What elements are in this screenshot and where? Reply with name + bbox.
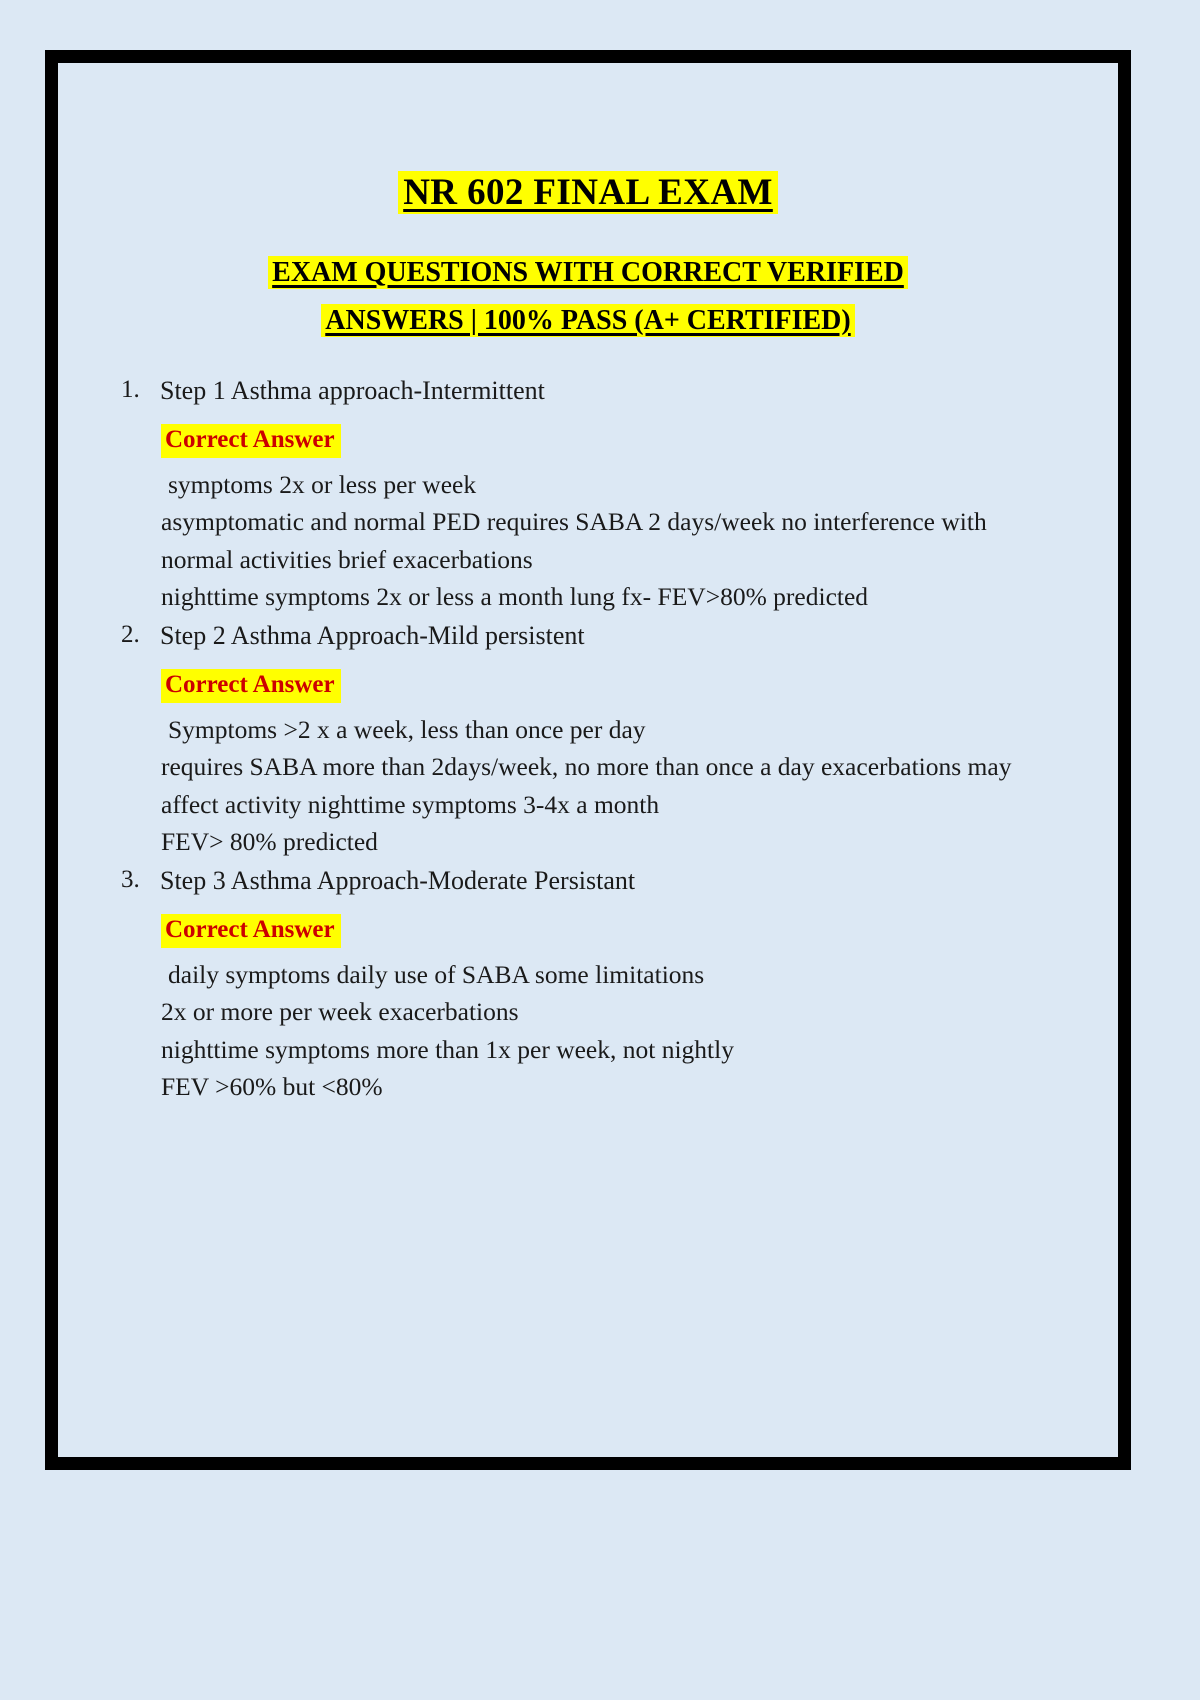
- answer-line: nighttime symptoms 2x or less a month lu…: [161, 578, 1058, 615]
- question-text: Step 1 Asthma approach-Intermittent: [160, 371, 1058, 411]
- answer-body: symptoms 2x or less per week asymptomati…: [161, 466, 1058, 616]
- answer-line: 2x or more per week exacerbations: [161, 993, 1058, 1030]
- document-page-frame: NR 602 FINAL EXAM EXAM QUESTIONS WITH CO…: [45, 50, 1131, 1470]
- answer-line: nighttime symptoms more than 1x per week…: [161, 1031, 1058, 1068]
- question-answer-list: 1. Step 1 Asthma approach-Intermittent C…: [118, 371, 1058, 1106]
- answer-label-container: Correct Answer: [161, 669, 1058, 703]
- answer-line: daily symptoms daily use of SABA some li…: [161, 956, 1058, 993]
- answer-line: symptoms 2x or less per week: [161, 466, 1058, 503]
- question-number: 3.: [121, 861, 140, 899]
- answer-line: asymptomatic and normal PED requires SAB…: [161, 503, 1058, 578]
- list-item: 2. Step 2 Asthma Approach-Mild persisten…: [118, 616, 1058, 861]
- question-number: 1.: [121, 371, 140, 409]
- document-title-container: NR 602 FINAL EXAM: [118, 166, 1058, 220]
- answer-block: Correct Answer Symptoms >2 x a week, les…: [160, 669, 1058, 860]
- list-item: 1. Step 1 Asthma approach-Intermittent C…: [118, 371, 1058, 616]
- subtitle-line-1: EXAM QUESTIONS WITH CORRECT VERIFIED: [118, 249, 1058, 297]
- subtitle-text-1: EXAM QUESTIONS WITH CORRECT VERIFIED: [268, 256, 908, 289]
- correct-answer-badge: Correct Answer: [161, 424, 341, 458]
- question-text: Step 3 Asthma Approach-Moderate Persista…: [160, 861, 1058, 901]
- answer-line: FEV> 80% predicted: [161, 823, 1058, 860]
- answer-line: requires SABA more than 2days/week, no m…: [161, 748, 1058, 823]
- answer-body: daily symptoms daily use of SABA some li…: [161, 956, 1058, 1106]
- page-title: NR 602 FINAL EXAM: [398, 171, 778, 214]
- list-item: 3. Step 3 Asthma Approach-Moderate Persi…: [118, 861, 1058, 1106]
- answer-line: FEV >60% but <80%: [161, 1068, 1058, 1105]
- document-page-content: NR 602 FINAL EXAM EXAM QUESTIONS WITH CO…: [58, 63, 1118, 1457]
- answer-body: Symptoms >2 x a week, less than once per…: [161, 711, 1058, 861]
- correct-answer-badge: Correct Answer: [161, 669, 341, 703]
- answer-line: Symptoms >2 x a week, less than once per…: [161, 711, 1058, 748]
- document-subtitle-container: EXAM QUESTIONS WITH CORRECT VERIFIED ANS…: [118, 249, 1058, 345]
- correct-answer-badge: Correct Answer: [161, 914, 341, 948]
- subtitle-text-2: ANSWERS | 100% PASS (A+ CERTIFIED): [321, 304, 854, 337]
- answer-block: Correct Answer daily symptoms daily use …: [160, 914, 1058, 1105]
- answer-label-container: Correct Answer: [161, 424, 1058, 458]
- question-text: Step 2 Asthma Approach-Mild persistent: [160, 616, 1058, 656]
- question-number: 2.: [121, 616, 140, 654]
- subtitle-line-2: ANSWERS | 100% PASS (A+ CERTIFIED): [118, 297, 1058, 345]
- answer-label-container: Correct Answer: [161, 914, 1058, 948]
- answer-block: Correct Answer symptoms 2x or less per w…: [160, 424, 1058, 615]
